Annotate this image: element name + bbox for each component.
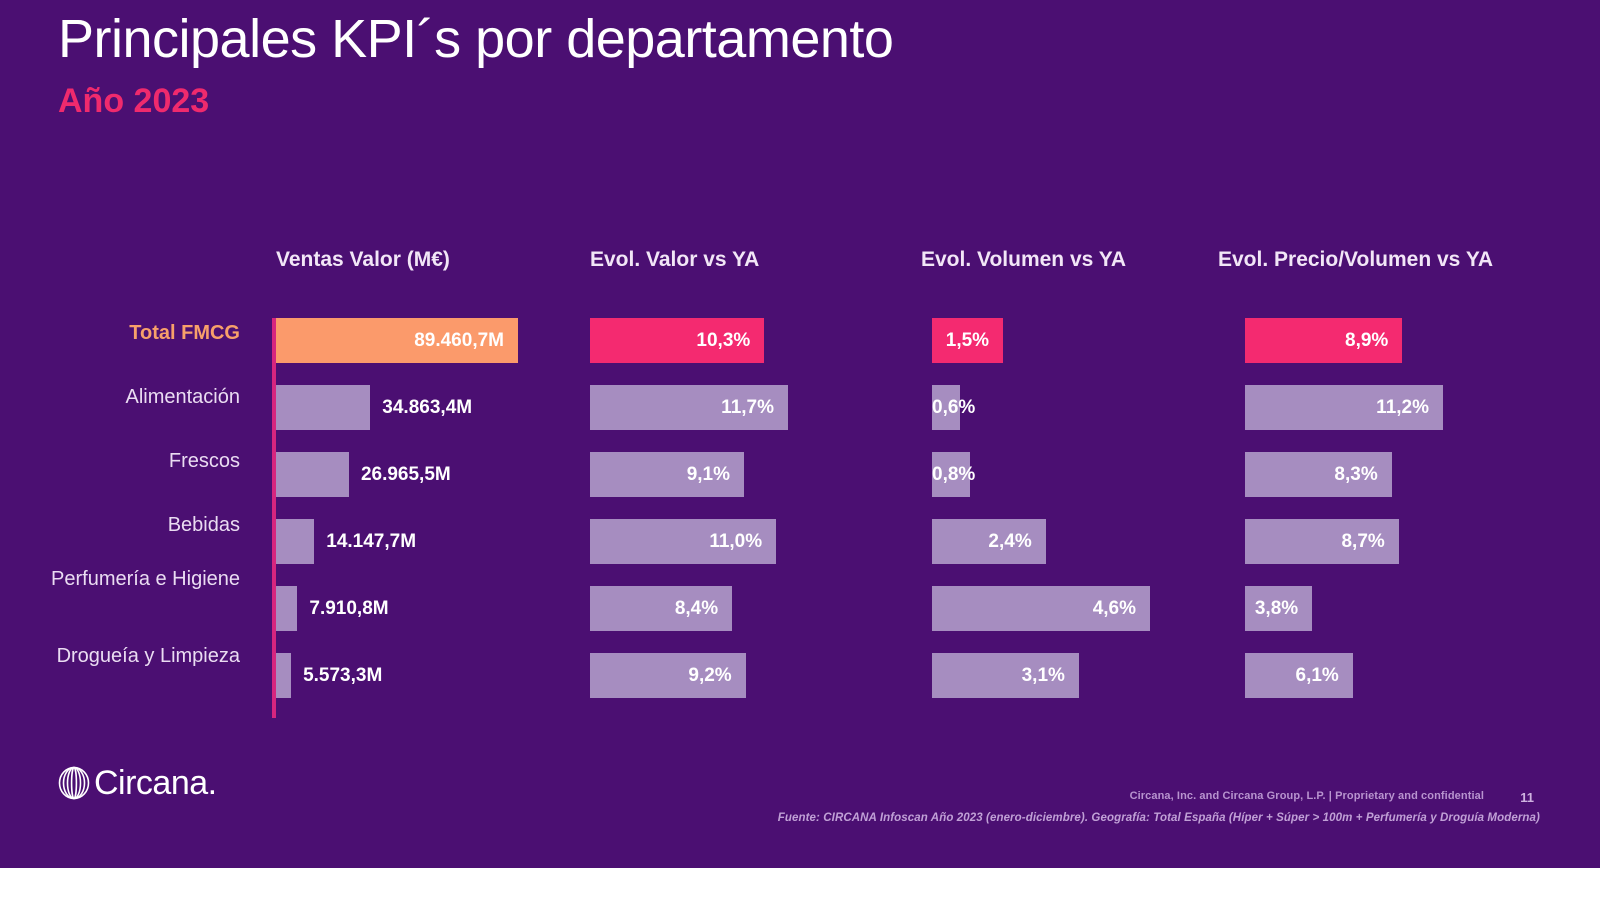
bar-value-p2-r3: 2,4%	[932, 519, 1046, 564]
bar-value-p1-r0: 10,3%	[590, 318, 764, 363]
row-label-1: Alimentación	[45, 386, 240, 408]
bar-value-p2-r1: 0,6%	[932, 385, 960, 430]
bar-p0-r2[interactable]	[276, 452, 349, 497]
page-number: 11	[1520, 790, 1534, 805]
bar-value-p3-r3: 8,7%	[1245, 519, 1399, 564]
bar-value-p3-r0: 8,9%	[1245, 318, 1402, 363]
bar-value-p2-r0: 1,5%	[932, 318, 1003, 363]
column-header-3: Evol. Precio/Volumen vs YA	[1218, 248, 1493, 272]
bar-value-p0-r1: 34.863,4M	[382, 385, 472, 430]
source-note: Fuente: CIRCANA Infoscan Año 2023 (enero…	[0, 812, 1540, 824]
bar-value-p0-r0: 89.460,7M	[276, 318, 518, 363]
bar-p0-r5[interactable]	[276, 653, 291, 698]
bar-value-p3-r4: 3,8%	[1245, 586, 1312, 631]
bar-value-p0-r4: 7.910,8M	[309, 586, 388, 631]
row-label-2: Frescos	[45, 450, 240, 472]
row-label-4: Perfumería e Higiene	[45, 568, 240, 590]
bar-value-p0-r3: 14.147,7M	[326, 519, 416, 564]
bar-value-p3-r5: 6,1%	[1245, 653, 1353, 698]
page-subtitle: Año 2023	[58, 82, 209, 121]
bar-value-p1-r2: 9,1%	[590, 452, 744, 497]
slide-canvas: Principales KPI´s por departamento Año 2…	[0, 0, 1600, 868]
row-label-0: Total FMCG	[45, 322, 240, 344]
bar-value-p2-r2: 0,8%	[932, 452, 970, 497]
row-label-5: Drogueía y Limpieza	[45, 645, 240, 667]
bar-value-p3-r1: 11,2%	[1245, 385, 1443, 430]
column-header-2: Evol. Volumen vs YA	[921, 248, 1126, 272]
slide-bottom-margin	[0, 868, 1600, 900]
logo-wordmark: Circana.	[94, 766, 217, 800]
bar-value-p3-r2: 8,3%	[1245, 452, 1392, 497]
bar-p0-r1[interactable]	[276, 385, 370, 430]
page-title: Principales KPI´s por departamento	[58, 8, 893, 70]
globe-icon	[56, 764, 92, 802]
bar-value-p1-r5: 9,2%	[590, 653, 746, 698]
column-header-1: Evol. Valor vs YA	[590, 248, 759, 272]
bar-value-p0-r5: 5.573,3M	[303, 653, 382, 698]
bar-value-p2-r5: 3,1%	[932, 653, 1079, 698]
bar-value-p1-r4: 8,4%	[590, 586, 732, 631]
bar-value-p2-r4: 4,6%	[932, 586, 1150, 631]
bar-value-p1-r1: 11,7%	[590, 385, 788, 430]
column-header-0: Ventas Valor (M€)	[276, 248, 450, 272]
bar-p0-r4[interactable]	[276, 586, 297, 631]
bar-value-p1-r3: 11,0%	[590, 519, 776, 564]
bar-p0-r3[interactable]	[276, 519, 314, 564]
copyright-notice: Circana, Inc. and Circana Group, L.P. | …	[1130, 790, 1484, 802]
bar-value-p0-r2: 26.965,5M	[361, 452, 451, 497]
circana-logo: Circana.	[56, 762, 217, 804]
row-label-3: Bebidas	[45, 514, 240, 536]
